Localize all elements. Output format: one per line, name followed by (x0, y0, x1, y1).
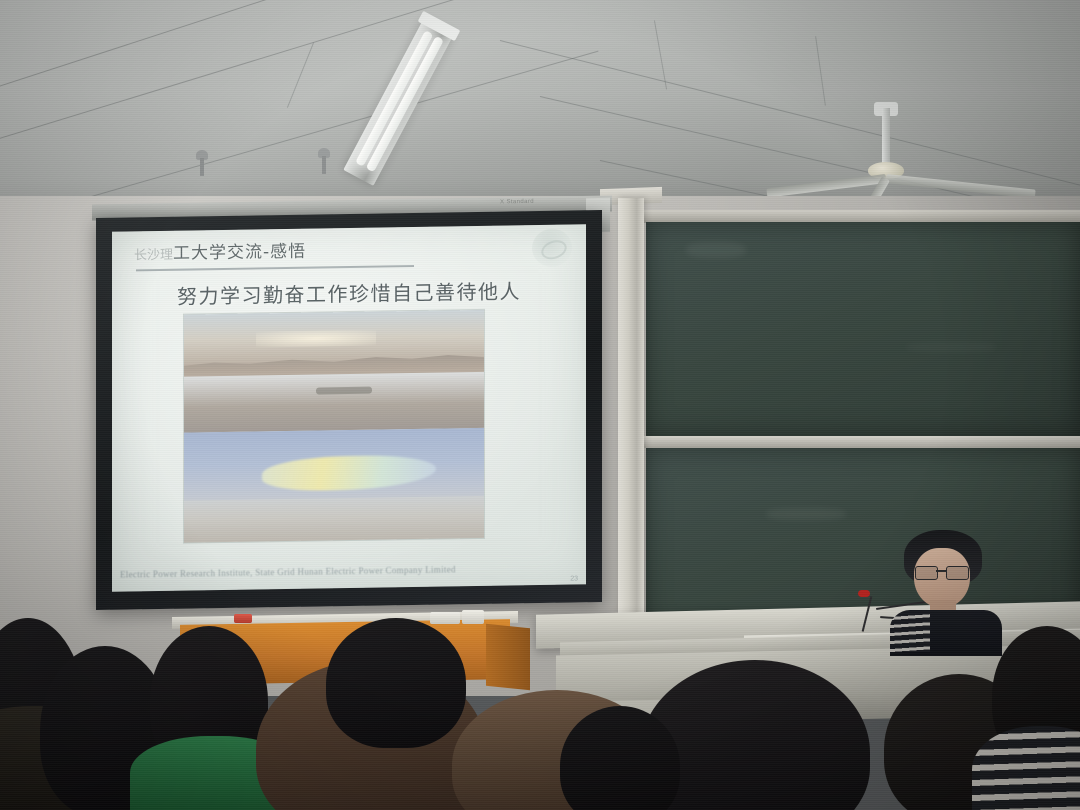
blackboard-chalk-rail (640, 436, 1080, 448)
slide-footer: Electric Power Research Institute, State… (120, 562, 578, 579)
photo-boat (316, 387, 372, 395)
slide-photo-group (184, 310, 484, 543)
desk-item (430, 612, 460, 624)
fan-downrod (882, 108, 890, 168)
photo-rainbow-cloud (262, 455, 436, 492)
glasses-icon (914, 566, 970, 578)
presenter (886, 530, 1016, 645)
lake-mountain-photo (184, 310, 484, 433)
lecture-hall-photo: X Standard 长沙理工大学交流-感悟 努力学习勤奋工作珍惜自己善待他人 (0, 0, 1080, 810)
slide-title-main: 工大学交流-感悟 (173, 242, 306, 264)
slide-heading: 努力学习勤奋工作珍惜自己善待他人 (112, 274, 586, 310)
wall-pillar (618, 198, 644, 638)
ceiling-fan (852, 108, 922, 204)
photo-mountain-ridge (184, 348, 484, 375)
slide-page-number: 23 (570, 575, 578, 582)
desk-side-panel (486, 624, 530, 691)
screen-brand-label: X Standard (500, 199, 534, 206)
presentation-slide[interactable]: 长沙理工大学交流-感悟 努力学习勤奋工作珍惜自己善待他人 Electric Po… (112, 224, 586, 591)
photo-water (184, 372, 484, 433)
state-grid-logo (532, 228, 572, 267)
audience-head (326, 618, 466, 748)
rainbow-cloud-sky-photo (184, 428, 484, 543)
slide-title: 长沙理工大学交流-感悟 (134, 233, 526, 264)
ceiling (0, 0, 1080, 228)
slide-title-prefix: 长沙理 (134, 248, 173, 264)
photo-haze (184, 496, 484, 543)
presenter-striped-sleeve (890, 612, 930, 652)
desk-item (462, 610, 484, 624)
desk-red-object (234, 614, 252, 623)
blackboard-upper (646, 222, 1080, 436)
slide-title-rule (136, 265, 414, 271)
photo-sun-glow (256, 330, 376, 348)
ceiling-speaker-left (196, 150, 208, 176)
podium-microphone (858, 590, 870, 597)
ceiling-speaker-right (318, 148, 330, 174)
